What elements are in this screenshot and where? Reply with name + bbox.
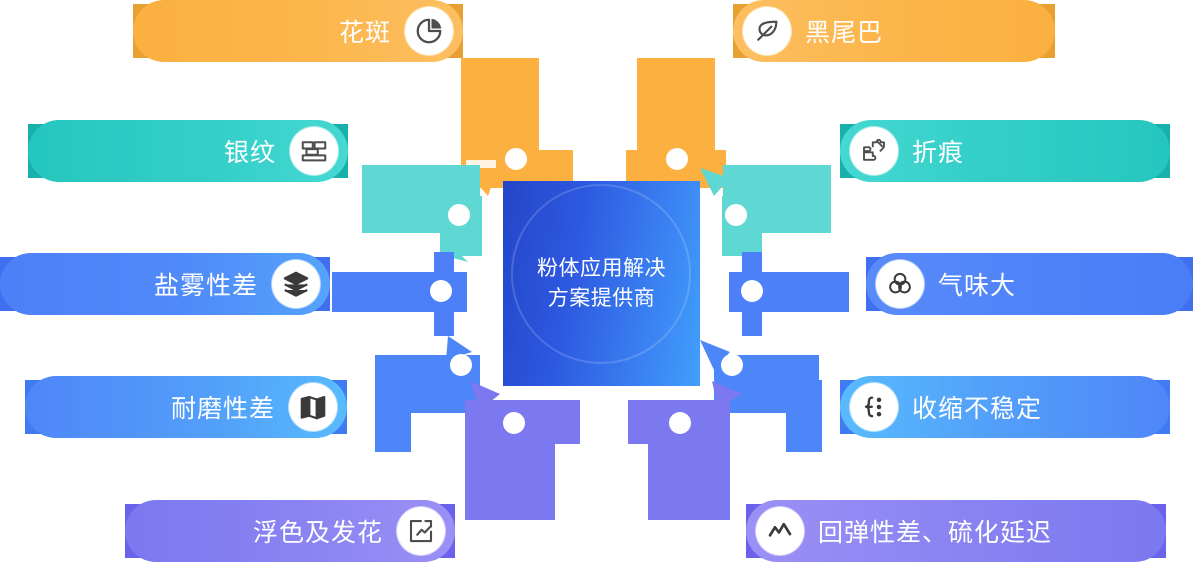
three-circles-icon bbox=[876, 260, 924, 308]
pill-body[interactable]: 黑尾巴 bbox=[733, 0, 1055, 62]
pill-right-3[interactable]: 气味大 bbox=[866, 253, 1193, 315]
pill-label: 花斑 bbox=[339, 13, 391, 49]
connector-arm-lower-left bbox=[375, 336, 480, 452]
pill-left-5[interactable]: 浮色及发花 bbox=[125, 500, 455, 562]
pill-body[interactable]: 折痕 bbox=[840, 120, 1170, 182]
connector-arm-middle-right bbox=[729, 252, 849, 336]
pill-label: 气味大 bbox=[938, 266, 1016, 302]
pill-label: 黑尾巴 bbox=[805, 13, 883, 49]
pill-left-4[interactable]: 耐磨性差 bbox=[25, 376, 347, 438]
pill-left-2[interactable]: 银纹 bbox=[28, 120, 348, 182]
pill-label: 浮色及发花 bbox=[253, 513, 383, 549]
pill-right-5[interactable]: 回弹性差、硫化延迟 bbox=[746, 500, 1166, 562]
layers-icon bbox=[272, 260, 320, 308]
pill-right-2[interactable]: 折痕 bbox=[840, 120, 1170, 182]
bracket-dots-icon bbox=[850, 383, 898, 431]
open-book-icon bbox=[289, 383, 337, 431]
pill-label: 盐雾性差 bbox=[154, 266, 258, 302]
pill-left-3[interactable]: 盐雾性差 bbox=[0, 253, 330, 315]
pill-left-1[interactable]: 花斑 bbox=[133, 0, 463, 62]
infographic-canvas: 粉体应用解决 方案提供商 花斑 银纹 bbox=[0, 0, 1193, 577]
pill-right-1[interactable]: 黑尾巴 bbox=[733, 0, 1055, 62]
pie-chart-icon bbox=[405, 7, 453, 55]
pill-right-4[interactable]: 收缩不稳定 bbox=[840, 376, 1170, 438]
connector-arm-bottom-right bbox=[628, 381, 742, 520]
line-chart-icon bbox=[756, 507, 804, 555]
pill-label: 收缩不稳定 bbox=[912, 389, 1042, 425]
pill-label: 耐磨性差 bbox=[171, 389, 275, 425]
pill-body[interactable]: 收缩不稳定 bbox=[840, 376, 1170, 438]
leaf-icon bbox=[743, 7, 791, 55]
pill-body[interactable]: 银纹 bbox=[28, 120, 348, 182]
pill-body[interactable]: 浮色及发花 bbox=[125, 500, 455, 562]
connector-arm-bottom-left bbox=[465, 381, 580, 520]
connector-arm-top-right bbox=[626, 58, 730, 188]
pill-body[interactable]: 气味大 bbox=[866, 253, 1193, 315]
connector-arm-middle-left bbox=[332, 252, 467, 336]
pill-label: 回弹性差、硫化延迟 bbox=[818, 513, 1052, 549]
connector-arm-upper-left bbox=[362, 165, 482, 262]
brick-wall-icon bbox=[290, 127, 338, 175]
center-title: 粉体应用解决 方案提供商 bbox=[503, 181, 700, 386]
puzzle-icon bbox=[850, 127, 898, 175]
pill-body[interactable]: 耐磨性差 bbox=[25, 376, 347, 438]
pill-label: 银纹 bbox=[224, 133, 276, 169]
pill-body[interactable]: 回弹性差、硫化延迟 bbox=[746, 500, 1166, 562]
pill-body[interactable]: 盐雾性差 bbox=[0, 253, 330, 315]
connector-arm-upper-right bbox=[700, 165, 831, 256]
pill-body[interactable]: 花斑 bbox=[133, 0, 463, 62]
center-node: 粉体应用解决 方案提供商 bbox=[503, 181, 700, 386]
pill-label: 折痕 bbox=[912, 133, 964, 169]
trend-up-box-icon bbox=[397, 507, 445, 555]
